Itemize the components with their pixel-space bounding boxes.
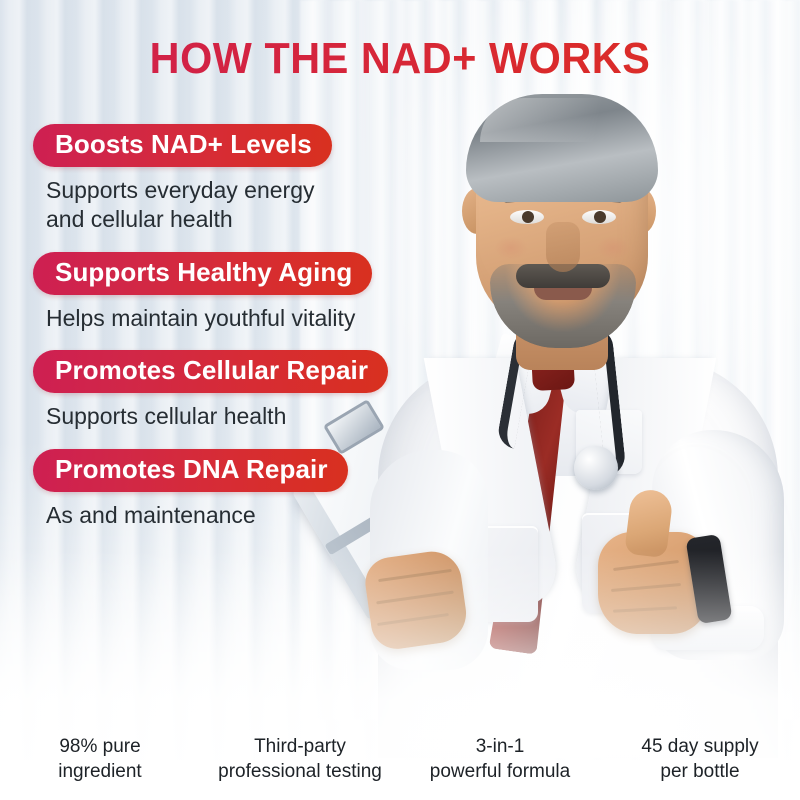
cheek-right <box>596 236 630 260</box>
benefit-description-1: Supports everyday energy and cellular he… <box>46 176 446 234</box>
pupil-left <box>522 211 534 223</box>
footer-claim-testing-line2: professional testing <box>200 760 400 784</box>
footer-claim-purity: 98% pure ingredient <box>0 735 200 784</box>
benefit-description-2-line1: Helps maintain youthful vitality <box>46 304 446 333</box>
footer-claim-supply: 45 day supply per bottle <box>600 735 800 784</box>
footer-claim-purity-line1: 98% pure <box>0 735 200 759</box>
promotional-infographic: HOW THE NAD+ WORKS Boosts NAD+ Levels Su… <box>0 0 800 800</box>
hair-highlight <box>480 98 648 142</box>
benefit-badge-promotes-dna-repair: Promotes DNA Repair <box>33 449 348 492</box>
benefit-badge-supports-healthy-aging: Supports Healthy Aging <box>33 252 372 295</box>
footer-claim-formula: 3-in-1 powerful formula <box>400 735 600 784</box>
footer-claim-testing: Third-party professional testing <box>200 735 400 784</box>
footer-claims: 98% pure ingredient Third-party professi… <box>0 735 800 784</box>
benefit-badge-promotes-cellular-repair: Promotes Cellular Repair <box>33 350 388 393</box>
benefit-description-4: As and maintenance <box>46 501 446 530</box>
footer-claim-supply-line1: 45 day supply <box>600 735 800 759</box>
benefit-description-1-line2: and cellular health <box>46 205 446 234</box>
benefit-item-1: Boosts NAD+ Levels Supports everyday ene… <box>0 124 470 234</box>
footer-claim-testing-line1: Third-party <box>200 735 400 759</box>
benefit-description-3-line1: Supports cellular health <box>46 402 446 431</box>
footer-claim-supply-line2: per bottle <box>600 760 800 784</box>
cheek-left <box>494 236 528 260</box>
nose <box>546 222 580 272</box>
pupil-right <box>594 211 606 223</box>
stethoscope-chestpiece-icon <box>574 446 618 490</box>
benefit-item-4: Promotes DNA Repair As and maintenance <box>0 449 470 530</box>
benefit-description-4-line1: As and maintenance <box>46 501 446 530</box>
footer-claim-purity-line2: ingredient <box>0 760 200 784</box>
benefit-badge-boosts-nad-levels: Boosts NAD+ Levels <box>33 124 332 167</box>
benefit-description-2: Helps maintain youthful vitality <box>46 304 446 333</box>
benefit-item-2: Supports Healthy Aging Helps maintain yo… <box>0 252 470 333</box>
footer-claim-formula-line1: 3-in-1 <box>400 735 600 759</box>
benefits-list: Boosts NAD+ Levels Supports everyday ene… <box>0 124 470 548</box>
benefit-description-3: Supports cellular health <box>46 402 446 431</box>
benefit-description-1-line1: Supports everyday energy <box>46 176 446 205</box>
benefit-item-3: Promotes Cellular Repair Supports cellul… <box>0 350 470 431</box>
footer-claim-formula-line2: powerful formula <box>400 760 600 784</box>
mouth <box>534 288 592 300</box>
page-title: HOW THE NAD+ WORKS <box>24 34 776 84</box>
